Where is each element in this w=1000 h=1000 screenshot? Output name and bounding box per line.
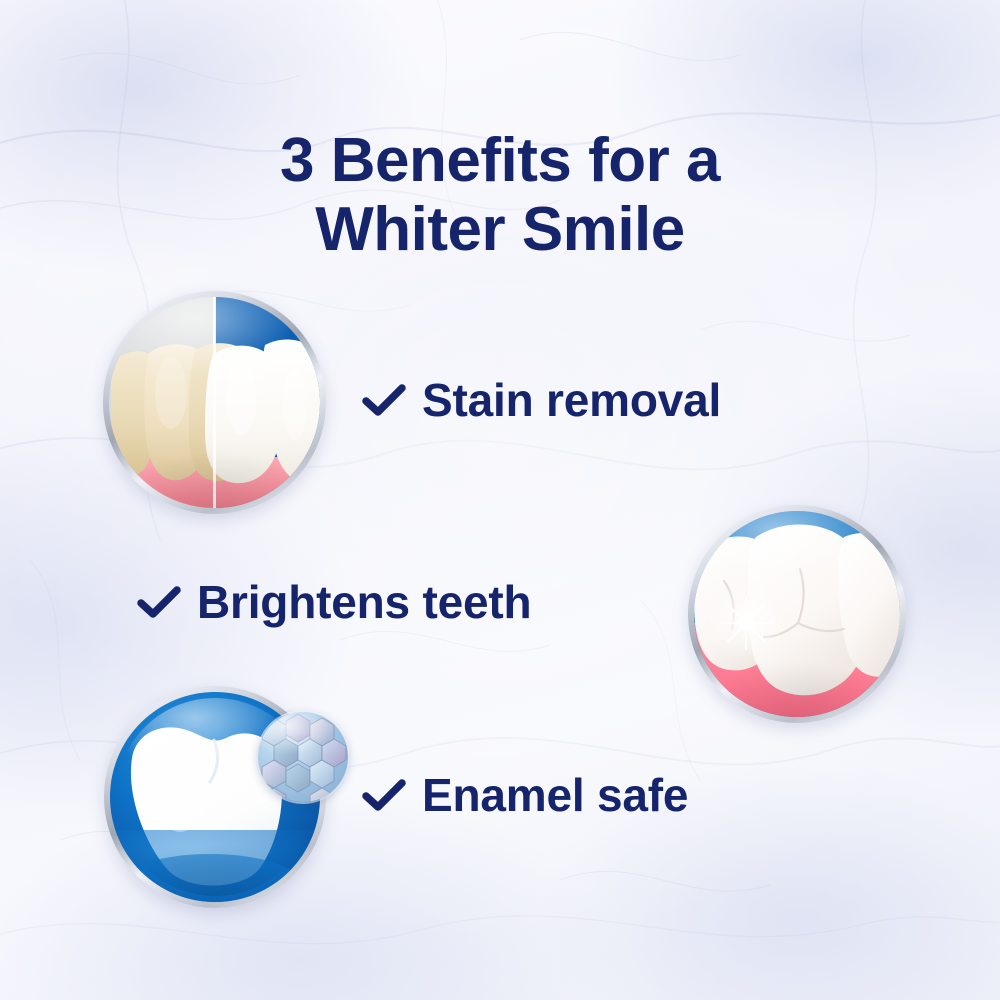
enamel-shield-tooth-icon: [104, 686, 326, 908]
page-title-line-1: 3 Benefits for a: [0, 126, 1000, 195]
check-icon: [362, 778, 406, 812]
hexagon-enamel-magnifier-icon: [258, 712, 348, 802]
benefit-item-enamel-safe: Enamel safe: [362, 768, 688, 822]
magnifier-glass-highlight: [258, 712, 348, 802]
check-icon: [362, 383, 406, 417]
badge-disc: [109, 297, 320, 508]
page-title-line-2: Whiter Smile: [0, 195, 1000, 264]
before-after-divider: [213, 297, 216, 508]
benefit-label: Stain removal: [422, 373, 721, 427]
product-benefits-poster: 3 Benefits for a Whiter Smile: [0, 0, 1000, 1000]
benefit-label: Brightens teeth: [197, 575, 531, 629]
benefit-label: Enamel safe: [422, 768, 688, 822]
bright-teeth-sparkle-icon: [688, 505, 906, 723]
benefit-item-stain-removal: Stain removal: [362, 373, 721, 427]
before-after-teeth-icon: [103, 291, 326, 514]
benefit-item-brightens-teeth: Brightens teeth: [137, 575, 531, 629]
check-icon: [137, 585, 181, 619]
page-title: 3 Benefits for a Whiter Smile: [0, 126, 1000, 265]
badge-disc: [694, 511, 900, 717]
teeth-illustration: [694, 511, 900, 717]
